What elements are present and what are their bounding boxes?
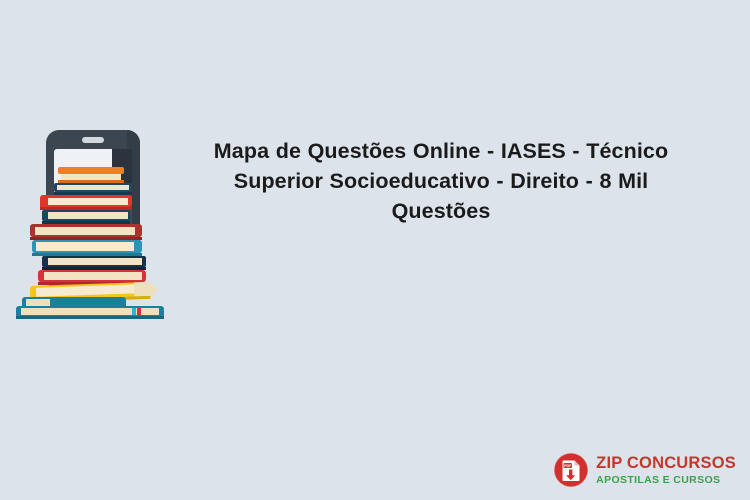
brand-text: ZIP CONCURSOS APOSTILAS E CURSOS xyxy=(596,455,736,486)
promo-card: Mapa de Questões Online - IASES - Técnic… xyxy=(0,0,750,500)
brand-tagline: APOSTILAS E CURSOS xyxy=(596,475,720,486)
book-darkred-mid xyxy=(30,224,142,240)
page-title: Mapa de Questões Online - IASES - Técnic… xyxy=(186,136,696,226)
book-orange-top xyxy=(58,167,124,183)
pdf-download-icon: PDF xyxy=(553,452,589,488)
book-navy-dark-lower xyxy=(42,256,146,270)
book-red-upper xyxy=(40,195,132,210)
svg-text:PDF: PDF xyxy=(564,464,572,468)
smartphone-with-book-stack-illustration xyxy=(8,125,178,320)
book-teal-base xyxy=(16,306,164,319)
book-teal-mid xyxy=(32,240,142,256)
title-block: Mapa de Questões Online - IASES - Técnic… xyxy=(186,136,696,226)
brand-logo[interactable]: PDF ZIP CONCURSOS APOSTILAS E CURSOS xyxy=(553,452,736,488)
book-navy-mid-upper xyxy=(42,210,130,224)
book-navy-upper xyxy=(54,183,132,195)
brand-name: ZIP CONCURSOS xyxy=(596,455,736,472)
